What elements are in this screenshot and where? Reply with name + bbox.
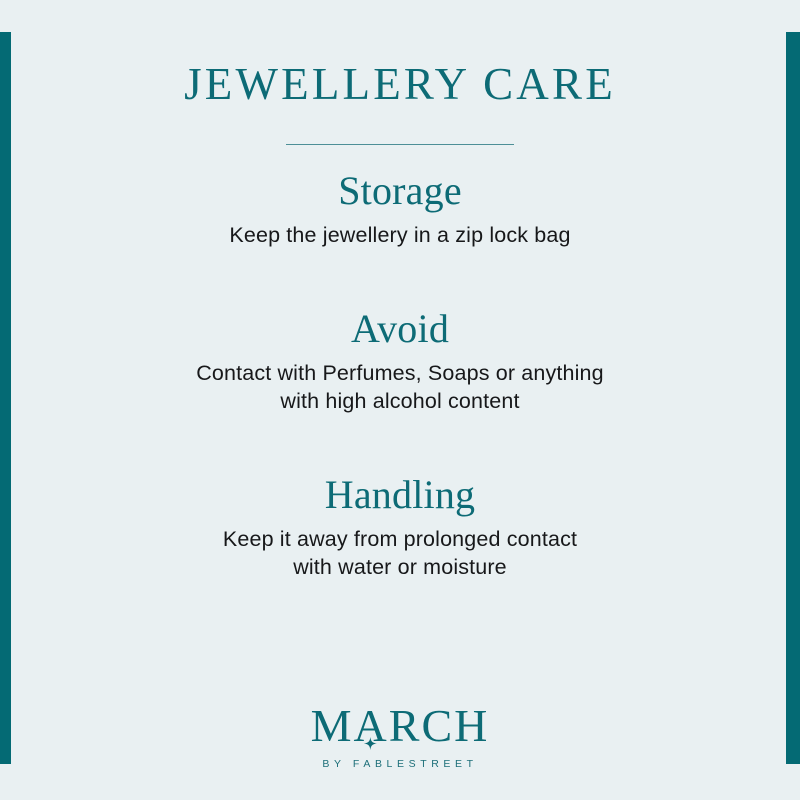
section-heading-storage: Storage bbox=[0, 170, 800, 212]
page-title: JEWELLERY CARE bbox=[184, 62, 616, 107]
section-heading-handling: Handling bbox=[0, 474, 800, 516]
section-body-storage: Keep the jewellery in a zip lock bag bbox=[0, 221, 800, 250]
jewellery-care-poster: JEWELLERY CARE Storage Keep the jeweller… bbox=[0, 0, 800, 800]
brand-wordmark-part-3: RCH bbox=[389, 700, 490, 751]
care-section-storage: Storage Keep the jewellery in a zip lock… bbox=[0, 170, 800, 250]
poster-content: JEWELLERY CARE Storage Keep the jeweller… bbox=[0, 0, 800, 800]
brand-wordmark-part-1: M bbox=[311, 700, 354, 751]
title-divider bbox=[286, 144, 514, 145]
brand-wordmark: MARCH bbox=[311, 703, 490, 749]
care-sections-list: Storage Keep the jewellery in a zip lock… bbox=[0, 170, 800, 582]
care-section-handling: Handling Keep it away from prolonged con… bbox=[0, 474, 800, 582]
care-section-avoid: Avoid Contact with Perfumes, Soaps or an… bbox=[0, 308, 800, 416]
brand-wordmark-part-2: A bbox=[354, 700, 389, 751]
section-body-avoid: Contact with Perfumes, Soaps or anything… bbox=[0, 359, 800, 416]
title-block: JEWELLERY CARE bbox=[184, 62, 616, 145]
brand-tagline: BY FABLESTREET bbox=[0, 759, 800, 770]
section-heading-avoid: Avoid bbox=[0, 308, 800, 350]
brand-logo: MARCH BY FABLESTREET bbox=[0, 703, 800, 770]
section-body-handling: Keep it away from prolonged contact with… bbox=[0, 525, 800, 582]
brand-letter-a-group: A bbox=[354, 703, 389, 749]
